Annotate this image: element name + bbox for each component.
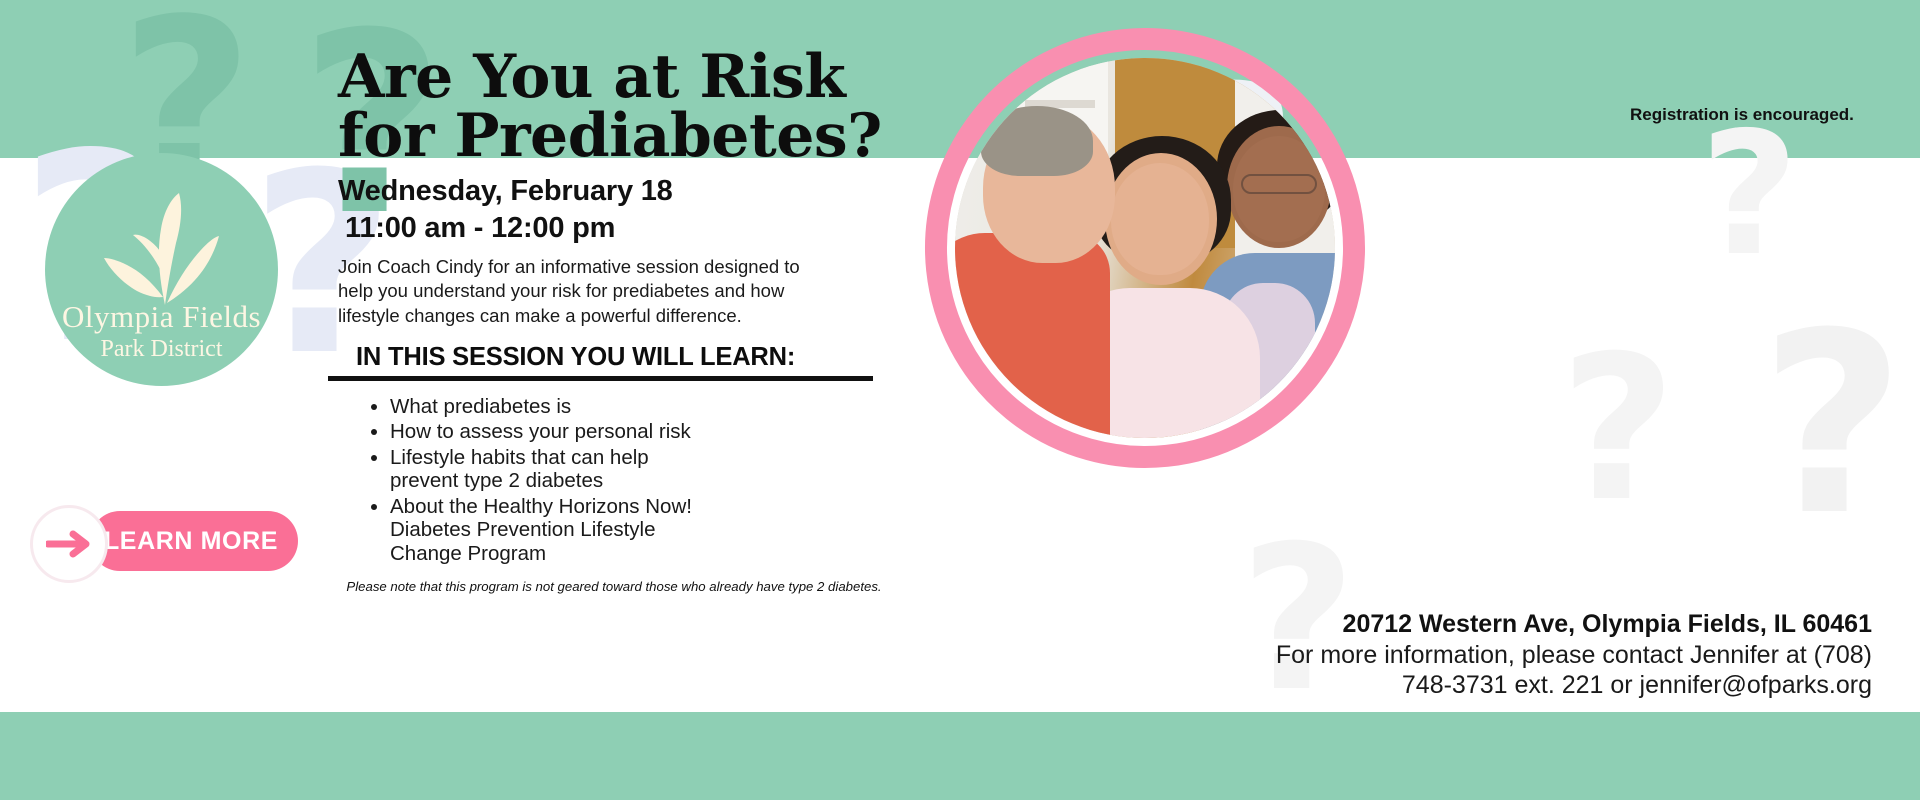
list-item: How to assess your personal risk <box>390 420 720 443</box>
event-date: Wednesday, February 18 <box>338 175 918 208</box>
headline-line-2: for Prediabetes? <box>338 107 918 166</box>
disclaimer-note: Please note that this program is not gea… <box>314 579 914 594</box>
registration-note: Registration is encouraged. <box>1630 105 1854 125</box>
decorative-question-mark-icon: ? <box>1700 110 1799 280</box>
headline-line-1: Are You at Risk <box>338 48 918 107</box>
list-item: Lifestyle habits that can help prevent t… <box>390 446 720 493</box>
learn-more-pill[interactable]: LEARN MORE <box>90 511 298 571</box>
learn-more-label: LEARN MORE <box>104 527 278 556</box>
contact-block: 20712 Western Ave, Olympia Fields, IL 60… <box>1172 610 1872 700</box>
promotional-banner: ? ? ? ? ? ? ? ? ? Olympia Fields Park Di… <box>0 0 1920 800</box>
logo-subtitle: Park District <box>101 335 223 364</box>
decorative-question-mark-icon: ? <box>1760 300 1905 550</box>
list-item: What prediabetes is <box>390 395 720 418</box>
decorative-question-mark-icon: ? <box>1560 330 1676 530</box>
contact-line-1: For more information, please contact Jen… <box>1172 640 1872 670</box>
park-district-logo: Olympia Fields Park District <box>45 153 278 386</box>
main-content: Are You at Risk for Prediabetes? Wednesd… <box>338 48 918 594</box>
list-item: About the Healthy Horizons Now! Diabetes… <box>390 495 720 565</box>
session-topics-list: What prediabetes is How to assess your p… <box>338 395 918 565</box>
session-heading: IN THIS SESSION YOU WILL LEARN: <box>338 343 918 372</box>
heading-divider <box>328 376 873 381</box>
bottom-green-band <box>0 712 1920 800</box>
contact-line-2: 748-3731 ext. 221 or jennifer@ofparks.or… <box>1172 670 1872 700</box>
photo-container <box>925 28 1365 468</box>
event-time: 11:00 am - 12:00 pm <box>338 212 918 245</box>
venue-address: 20712 Western Ave, Olympia Fields, IL 60… <box>1172 610 1872 640</box>
intro-paragraph: Join Coach Cindy for an informative sess… <box>338 255 838 328</box>
leaf-plume-icon <box>103 185 221 312</box>
learn-more-button[interactable]: LEARN MORE <box>30 505 300 577</box>
arrow-right-icon[interactable] <box>30 505 108 583</box>
